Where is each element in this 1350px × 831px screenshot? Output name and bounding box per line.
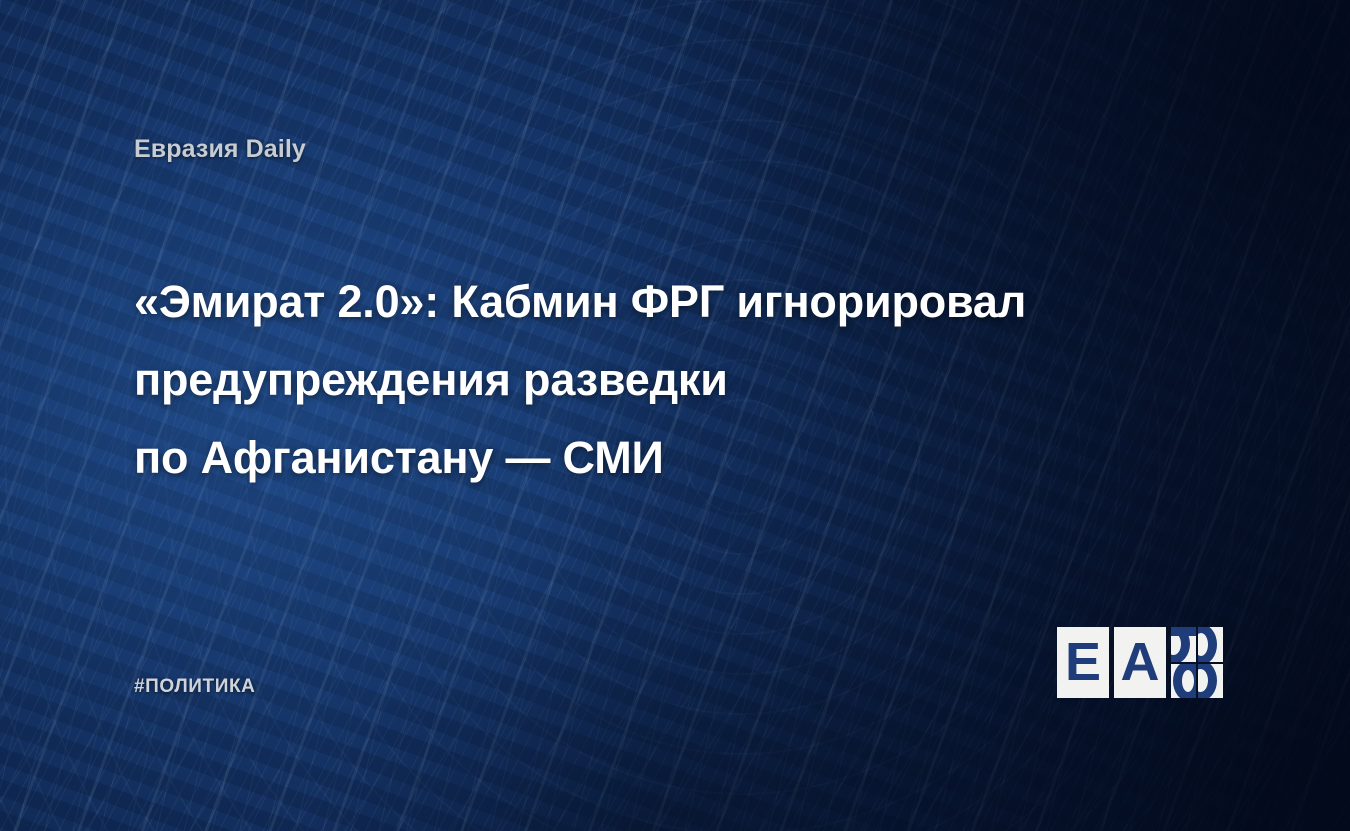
eadaily-logo[interactable]: E A: [1057, 627, 1223, 698]
headline-line-1: «Эмират 2.0»: Кабмин ФРГ игнорировал: [134, 263, 1264, 341]
logo-tile-a: A: [1114, 627, 1166, 698]
card-content: Евразия Daily «Эмират 2.0»: Кабмин ФРГ и…: [0, 0, 1350, 831]
news-card: Евразия Daily «Эмират 2.0»: Кабмин ФРГ и…: [0, 0, 1350, 831]
logo-letter-e: E: [1065, 635, 1101, 689]
logo-cell-bottom-right: [1198, 664, 1223, 699]
brand-title: Евразия Daily: [134, 135, 306, 164]
logo-cell-top-left: [1171, 627, 1196, 662]
logo-cell-top-right: [1198, 627, 1223, 662]
headline-line-2: предупреждения разведки: [134, 341, 1264, 419]
logo-cell-bottom-left: [1171, 664, 1196, 699]
logo-tile-d-grid: [1171, 627, 1223, 698]
headline-line-3: по Афганистану — СМИ: [134, 419, 1264, 497]
logo-tile-e: E: [1057, 627, 1109, 698]
logo-letter-a: A: [1121, 635, 1160, 689]
headline: «Эмират 2.0»: Кабмин ФРГ игнорировал пре…: [134, 263, 1264, 497]
category-tag[interactable]: #ПОЛИТИКА: [134, 676, 256, 698]
